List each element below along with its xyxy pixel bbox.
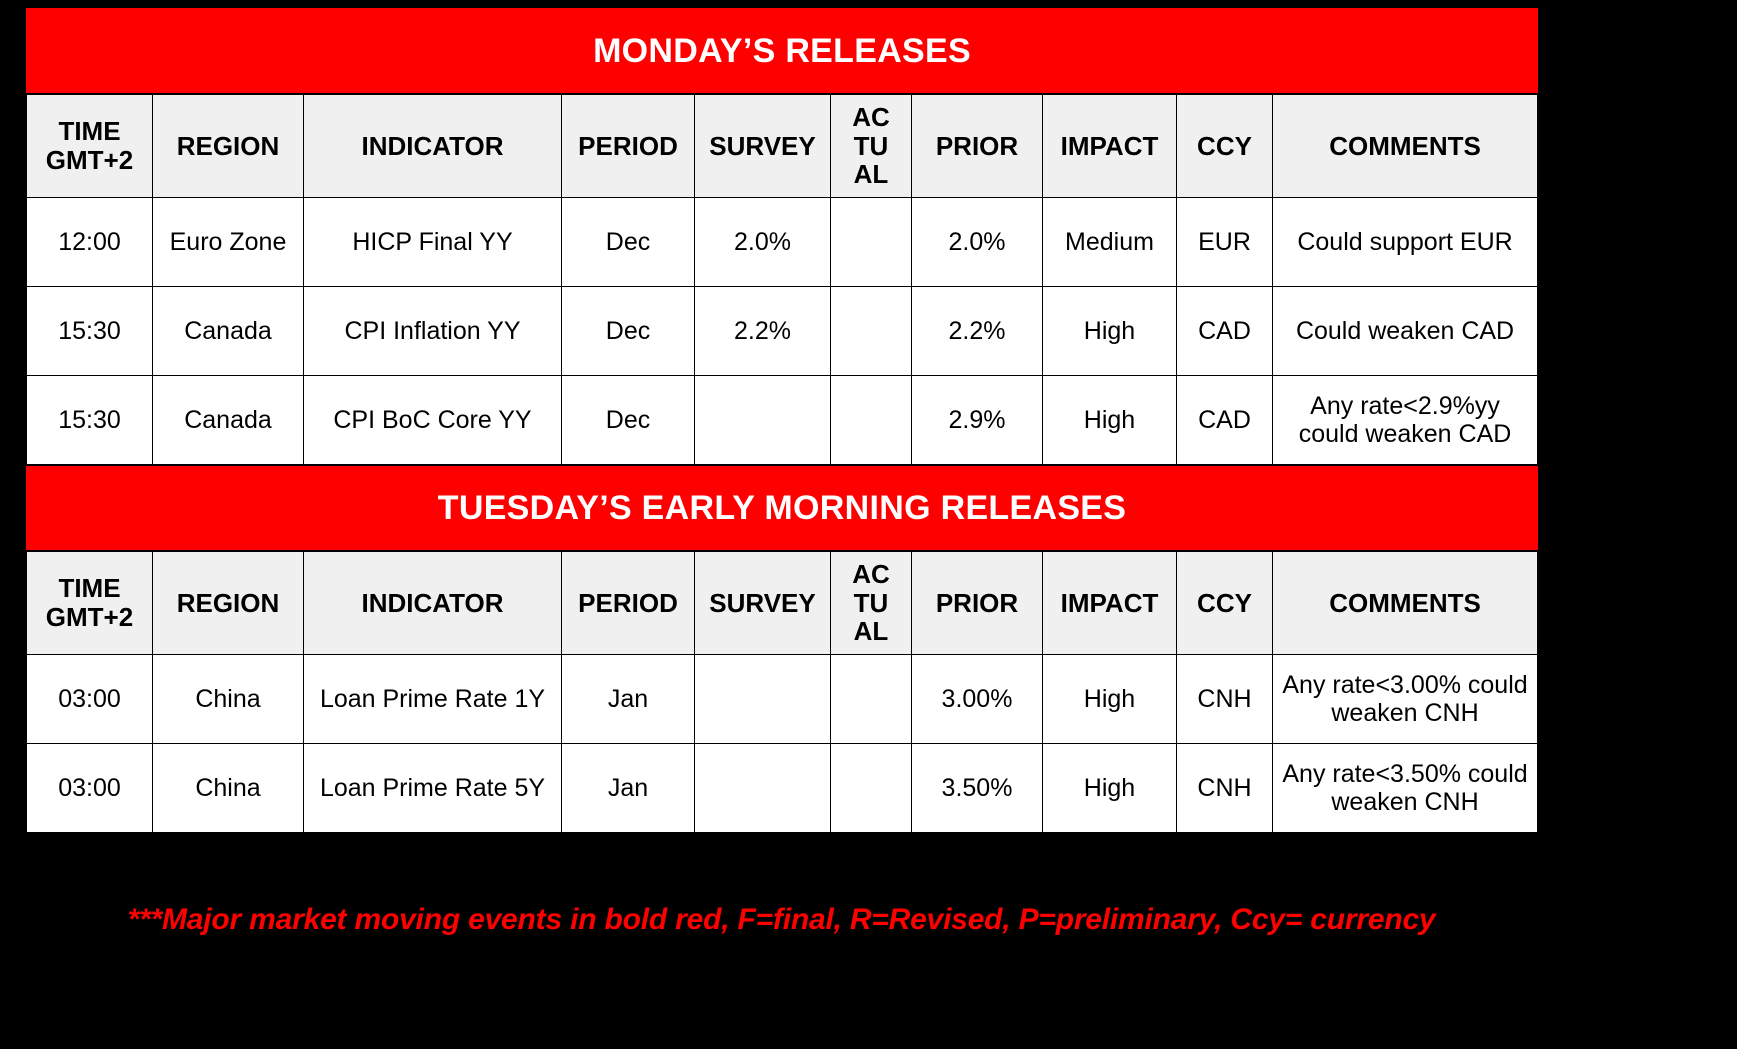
column-header-prior: PRIOR — [912, 94, 1043, 198]
economic-calendar-page: MONDAY’S RELEASES TIME GMT+2 REGION INDI… — [0, 0, 1737, 1049]
cell-ccy: CNH — [1177, 655, 1273, 744]
column-header-time: TIME GMT+2 — [27, 551, 153, 655]
tuesday-header-row: TIME GMT+2 REGION INDICATOR PERIOD SURVE… — [27, 551, 1538, 655]
column-header-comments: COMMENTS — [1273, 94, 1538, 198]
cell-time: 03:00 — [27, 655, 153, 744]
cell-survey — [695, 376, 831, 466]
cell-region: China — [153, 655, 304, 744]
cell-comments: Could support EUR — [1273, 198, 1538, 287]
column-header-actual: AC TU AL — [831, 551, 912, 655]
cell-ccy: CNH — [1177, 744, 1273, 833]
cell-comments: Any rate<3.00% could weaken CNH — [1273, 655, 1538, 744]
cell-impact: High — [1043, 287, 1177, 376]
monday-banner-row: MONDAY’S RELEASES — [27, 9, 1538, 95]
monday-releases-table: MONDAY’S RELEASES TIME GMT+2 REGION INDI… — [26, 8, 1538, 833]
column-header-region: REGION — [153, 551, 304, 655]
cell-ccy: CAD — [1177, 287, 1273, 376]
cell-prior: 2.9% — [912, 376, 1043, 466]
table-row: 12:00 Euro Zone HICP Final YY Dec 2.0% 2… — [27, 198, 1538, 287]
cell-time: 15:30 — [27, 376, 153, 466]
column-header-survey: SURVEY — [695, 94, 831, 198]
cell-survey: 2.0% — [695, 198, 831, 287]
table-row: 03:00 China Loan Prime Rate 5Y Jan 3.50%… — [27, 744, 1538, 833]
cell-region: Canada — [153, 376, 304, 466]
column-header-time: TIME GMT+2 — [27, 94, 153, 198]
column-header-prior: PRIOR — [912, 551, 1043, 655]
cell-actual — [831, 655, 912, 744]
cell-region: China — [153, 744, 304, 833]
cell-time: 15:30 — [27, 287, 153, 376]
cell-comments: Could weaken CAD — [1273, 287, 1538, 376]
cell-indicator: CPI BoC Core YY — [304, 376, 562, 466]
cell-prior: 2.0% — [912, 198, 1043, 287]
monday-header-row: TIME GMT+2 REGION INDICATOR PERIOD SURVE… — [27, 94, 1538, 198]
column-header-ccy: CCY — [1177, 551, 1273, 655]
cell-period: Dec — [562, 198, 695, 287]
tuesday-banner-row: TUESDAY’S EARLY MORNING RELEASES — [27, 465, 1538, 551]
column-header-survey: SURVEY — [695, 551, 831, 655]
cell-prior: 3.50% — [912, 744, 1043, 833]
cell-actual — [831, 287, 912, 376]
cell-indicator: Loan Prime Rate 1Y — [304, 655, 562, 744]
cell-impact: High — [1043, 655, 1177, 744]
cell-actual — [831, 376, 912, 466]
cell-comments: Any rate<2.9%yy could weaken CAD — [1273, 376, 1538, 466]
column-header-period: PERIOD — [562, 551, 695, 655]
cell-survey: 2.2% — [695, 287, 831, 376]
legend-footnote: ***Major market moving events in bold re… — [26, 903, 1537, 937]
cell-ccy: CAD — [1177, 376, 1273, 466]
cell-time: 12:00 — [27, 198, 153, 287]
cell-period: Jan — [562, 744, 695, 833]
cell-comments: Any rate<3.50% could weaken CNH — [1273, 744, 1538, 833]
column-header-region: REGION — [153, 94, 304, 198]
table-row: 15:30 Canada CPI BoC Core YY Dec 2.9% Hi… — [27, 376, 1538, 466]
column-header-actual: AC TU AL — [831, 94, 912, 198]
table-row: 03:00 China Loan Prime Rate 1Y Jan 3.00%… — [27, 655, 1538, 744]
cell-survey — [695, 744, 831, 833]
cell-survey — [695, 655, 831, 744]
cell-ccy: EUR — [1177, 198, 1273, 287]
cell-prior: 3.00% — [912, 655, 1043, 744]
cell-region: Canada — [153, 287, 304, 376]
table-row: 15:30 Canada CPI Inflation YY Dec 2.2% 2… — [27, 287, 1538, 376]
cell-indicator: HICP Final YY — [304, 198, 562, 287]
cell-impact: High — [1043, 376, 1177, 466]
cell-period: Jan — [562, 655, 695, 744]
cell-impact: High — [1043, 744, 1177, 833]
calendar-sheet: MONDAY’S RELEASES TIME GMT+2 REGION INDI… — [26, 8, 1537, 833]
cell-period: Dec — [562, 376, 695, 466]
monday-banner-title: MONDAY’S RELEASES — [27, 9, 1538, 95]
column-header-indicator: INDICATOR — [304, 551, 562, 655]
cell-indicator: CPI Inflation YY — [304, 287, 562, 376]
column-header-ccy: CCY — [1177, 94, 1273, 198]
cell-impact: Medium — [1043, 198, 1177, 287]
column-header-comments: COMMENTS — [1273, 551, 1538, 655]
column-header-impact: IMPACT — [1043, 551, 1177, 655]
cell-region: Euro Zone — [153, 198, 304, 287]
cell-time: 03:00 — [27, 744, 153, 833]
column-header-period: PERIOD — [562, 94, 695, 198]
cell-period: Dec — [562, 287, 695, 376]
column-header-impact: IMPACT — [1043, 94, 1177, 198]
tuesday-banner-title: TUESDAY’S EARLY MORNING RELEASES — [27, 465, 1538, 551]
cell-prior: 2.2% — [912, 287, 1043, 376]
cell-indicator: Loan Prime Rate 5Y — [304, 744, 562, 833]
cell-actual — [831, 744, 912, 833]
column-header-indicator: INDICATOR — [304, 94, 562, 198]
cell-actual — [831, 198, 912, 287]
